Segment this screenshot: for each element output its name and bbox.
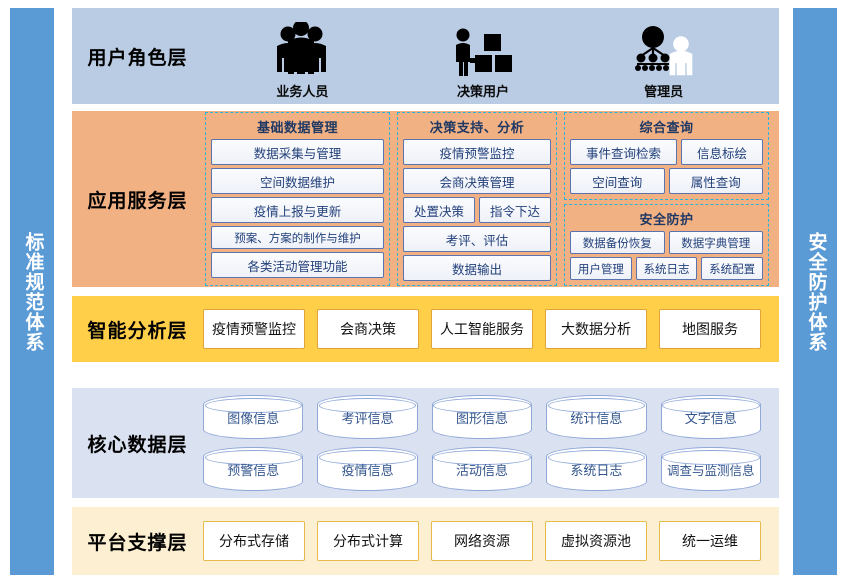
data-store-graphic-info[interactable]: 图形信息: [432, 395, 532, 439]
layer-core-data-title: 核心数据层: [72, 430, 203, 457]
platform-item-distributed-computing[interactable]: 分布式计算: [317, 521, 419, 561]
layer-intelligent-analysis: 智能分析层 疫情预警监控 会商决策 人工智能服务 大数据分析 地图服务: [72, 296, 779, 362]
right-vertical-bar-security: 安全防护体系: [793, 8, 837, 575]
chip-command-issuance[interactable]: 指令下达: [479, 197, 551, 223]
app-service-groups: 基础数据管理 数据采集与管理 空间数据维护 疫情上报与更新 预案、方案的制作与维…: [203, 108, 779, 290]
chip-row: 空间数据维护: [211, 168, 384, 194]
intel-item-ai-service[interactable]: 人工智能服务: [431, 309, 533, 349]
chip-row: 数据输出: [403, 255, 551, 281]
chip-data-output[interactable]: 数据输出: [403, 255, 551, 281]
chip-epidemic-report-update[interactable]: 疫情上报与更新: [211, 197, 384, 223]
data-store-image-info[interactable]: 图像信息: [203, 395, 303, 439]
data-store-survey-monitoring-info[interactable]: 调查与监测信息: [661, 447, 761, 491]
chip-spatial-data-maintenance[interactable]: 空间数据维护: [211, 168, 384, 194]
data-store-label: 统计信息: [568, 408, 624, 427]
intel-item-consultation-decision[interactable]: 会商决策: [317, 309, 419, 349]
intel-item-big-data-analysis[interactable]: 大数据分析: [545, 309, 647, 349]
chip-spatial-query[interactable]: 空间查询: [570, 168, 665, 194]
layer-user-role: 用户角色层: [72, 8, 779, 104]
platform-item-unified-operations[interactable]: 统一运维: [659, 521, 761, 561]
chip-row: 疫情预警监控: [403, 139, 551, 165]
data-store-label: 活动信息: [454, 460, 510, 479]
layer-user-role-title: 用户角色层: [72, 43, 203, 70]
chip-list: 数据采集与管理 空间数据维护 疫情上报与更新 预案、方案的制作与维护 各类活动管: [211, 139, 384, 278]
group-stack-query-security: 综合查询 事件查询检索 信息标绘 空间查询 属性查询: [564, 112, 769, 286]
data-store-label: 疫情信息: [340, 460, 396, 479]
platform-item-network-resources[interactable]: 网络资源: [431, 521, 533, 561]
chip-user-management[interactable]: 用户管理: [570, 257, 632, 280]
data-store-label: 图形信息: [454, 408, 510, 427]
platform-item-virtual-resource-pool[interactable]: 虚拟资源池: [545, 521, 647, 561]
role-label: 管理员: [644, 81, 683, 100]
chip-row: 会商决策管理: [403, 168, 551, 194]
chip-plan-creation-maintenance[interactable]: 预案、方案的制作与维护: [211, 226, 384, 249]
layer-user-role-body: 业务人员 决策用: [203, 12, 779, 100]
chip-information-plotting[interactable]: 信息标绘: [681, 139, 763, 165]
layer-app-service-body: 基础数据管理 数据采集与管理 空间数据维护 疫情上报与更新 预案、方案的制作与维…: [203, 108, 779, 290]
group-title: 基础数据管理: [211, 117, 384, 136]
chip-system-configuration[interactable]: 系统配置: [701, 257, 763, 280]
architecture-diagram: 标准规范体系 安全防护体系 用户角色层: [0, 0, 851, 583]
left-vertical-bar-label: 标准规范体系: [19, 232, 46, 352]
chip-data-dictionary-management[interactable]: 数据字典管理: [669, 231, 764, 254]
chip-row: 空间查询 属性查询: [570, 168, 763, 194]
chip-disposal-decision[interactable]: 处置决策: [403, 197, 475, 223]
data-store-text-info[interactable]: 文字信息: [661, 395, 761, 439]
data-store-label: 图像信息: [225, 408, 281, 427]
platform-support-items: 分布式存储 分布式计算 网络资源 虚拟资源池 统一运维: [203, 521, 779, 561]
core-data-stores: 图像信息 考评信息 图形信息 统计信息 文字信息 预警信息 疫情: [203, 389, 779, 497]
data-store-label: 预警信息: [225, 460, 281, 479]
data-store-epidemic-info[interactable]: 疫情信息: [317, 447, 417, 491]
right-vertical-bar-label: 安全防护体系: [802, 232, 829, 352]
layer-platform-support-body: 分布式存储 分布式计算 网络资源 虚拟资源池 统一运维: [203, 521, 779, 561]
layer-intelligent-analysis-body: 疫情预警监控 会商决策 人工智能服务 大数据分析 地图服务: [203, 309, 779, 349]
group-comprehensive-query: 综合查询 事件查询检索 信息标绘 空间查询 属性查询: [564, 112, 769, 200]
chip-event-query-retrieval[interactable]: 事件查询检索: [570, 139, 677, 165]
data-store-label: 考评信息: [340, 408, 396, 427]
chip-row: 疫情上报与更新: [211, 197, 384, 223]
group-title: 综合查询: [570, 117, 763, 136]
chip-row: 数据备份恢复 数据字典管理: [570, 231, 763, 254]
chip-row: 用户管理 系统日志 系统配置: [570, 257, 763, 280]
chip-row: 数据采集与管理: [211, 139, 384, 165]
layer-app-service: 应用服务层 基础数据管理 数据采集与管理 空间数据维护 疫情上报与更新: [72, 111, 779, 287]
role-item-decision-user[interactable]: 决策用户: [452, 12, 514, 100]
chip-activity-management-functions[interactable]: 各类活动管理功能: [211, 252, 384, 278]
chip-list: 事件查询检索 信息标绘 空间查询 属性查询: [570, 139, 763, 194]
person-with-blocks-icon: [452, 20, 514, 78]
layer-platform-support-title: 平台支撑层: [72, 528, 203, 555]
layer-app-service-title: 应用服务层: [72, 186, 203, 213]
chip-row: 预案、方案的制作与维护: [211, 226, 384, 249]
chip-appraisal-evaluation[interactable]: 考评、评估: [403, 226, 551, 252]
group-decision-support-analysis: 决策支持、分析 疫情预警监控 会商决策管理 处置决策 指令下达: [397, 112, 557, 286]
layer-platform-support: 平台支撑层 分布式存储 分布式计算 网络资源 虚拟资源池 统一运维: [72, 507, 779, 575]
chip-row: 考评、评估: [403, 226, 551, 252]
intelligent-analysis-items: 疫情预警监控 会商决策 人工智能服务 大数据分析 地图服务: [203, 309, 779, 349]
chip-list: 数据备份恢复 数据字典管理 用户管理 系统日志 系统配置: [570, 231, 763, 280]
data-store-system-log[interactable]: 系统日志: [546, 447, 646, 491]
chip-data-collection-management[interactable]: 数据采集与管理: [211, 139, 384, 165]
layer-core-data-body: 图像信息 考评信息 图形信息 统计信息 文字信息 预警信息 疫情: [203, 389, 779, 497]
group-title: 安全防护: [570, 209, 763, 228]
data-store-appraisal-info[interactable]: 考评信息: [317, 395, 417, 439]
role-item-administrator[interactable]: 管理员: [631, 12, 697, 100]
role-list: 业务人员 决策用: [203, 12, 779, 100]
data-store-activity-info[interactable]: 活动信息: [432, 447, 532, 491]
role-label: 业务人员: [276, 81, 328, 100]
layer-core-data: 核心数据层 图像信息 考评信息 图形信息 统计信息 文字信息: [72, 388, 779, 498]
chip-data-backup-recovery[interactable]: 数据备份恢复: [570, 231, 665, 254]
chip-consultation-decision-management[interactable]: 会商决策管理: [403, 168, 551, 194]
data-store-label: 系统日志: [568, 460, 624, 479]
data-store-statistics-info[interactable]: 统计信息: [546, 395, 646, 439]
group-title: 决策支持、分析: [403, 117, 551, 136]
data-store-label: 调查与监测信息: [665, 460, 757, 478]
admin-hierarchy-icon: [631, 20, 697, 78]
data-store-label: 文字信息: [683, 408, 739, 427]
left-vertical-bar-standards: 标准规范体系: [10, 8, 54, 575]
chip-system-log[interactable]: 系统日志: [636, 257, 698, 280]
layer-intelligent-analysis-title: 智能分析层: [72, 316, 203, 343]
group-basic-data-management: 基础数据管理 数据采集与管理 空间数据维护 疫情上报与更新 预案、方案的制作与维…: [205, 112, 390, 286]
chip-list: 疫情预警监控 会商决策管理 处置决策 指令下达 考评、评估: [403, 139, 551, 281]
role-item-business-staff[interactable]: 业务人员: [269, 12, 335, 100]
intel-item-epidemic-alert-monitoring[interactable]: 疫情预警监控: [203, 309, 305, 349]
chip-epidemic-alert-monitoring[interactable]: 疫情预警监控: [403, 139, 551, 165]
chip-attribute-query[interactable]: 属性查询: [669, 168, 764, 194]
role-label: 决策用户: [457, 81, 509, 100]
group-security-protection: 安全防护 数据备份恢复 数据字典管理 用户管理 系统日志 系统配置: [564, 204, 769, 286]
data-store-alert-info[interactable]: 预警信息: [203, 447, 303, 491]
chip-row: 事件查询检索 信息标绘: [570, 139, 763, 165]
group-of-people-icon: [269, 20, 335, 78]
intel-item-map-service[interactable]: 地图服务: [659, 309, 761, 349]
chip-row: 各类活动管理功能: [211, 252, 384, 278]
chip-row: 处置决策 指令下达: [403, 197, 551, 223]
platform-item-distributed-storage[interactable]: 分布式存储: [203, 521, 305, 561]
